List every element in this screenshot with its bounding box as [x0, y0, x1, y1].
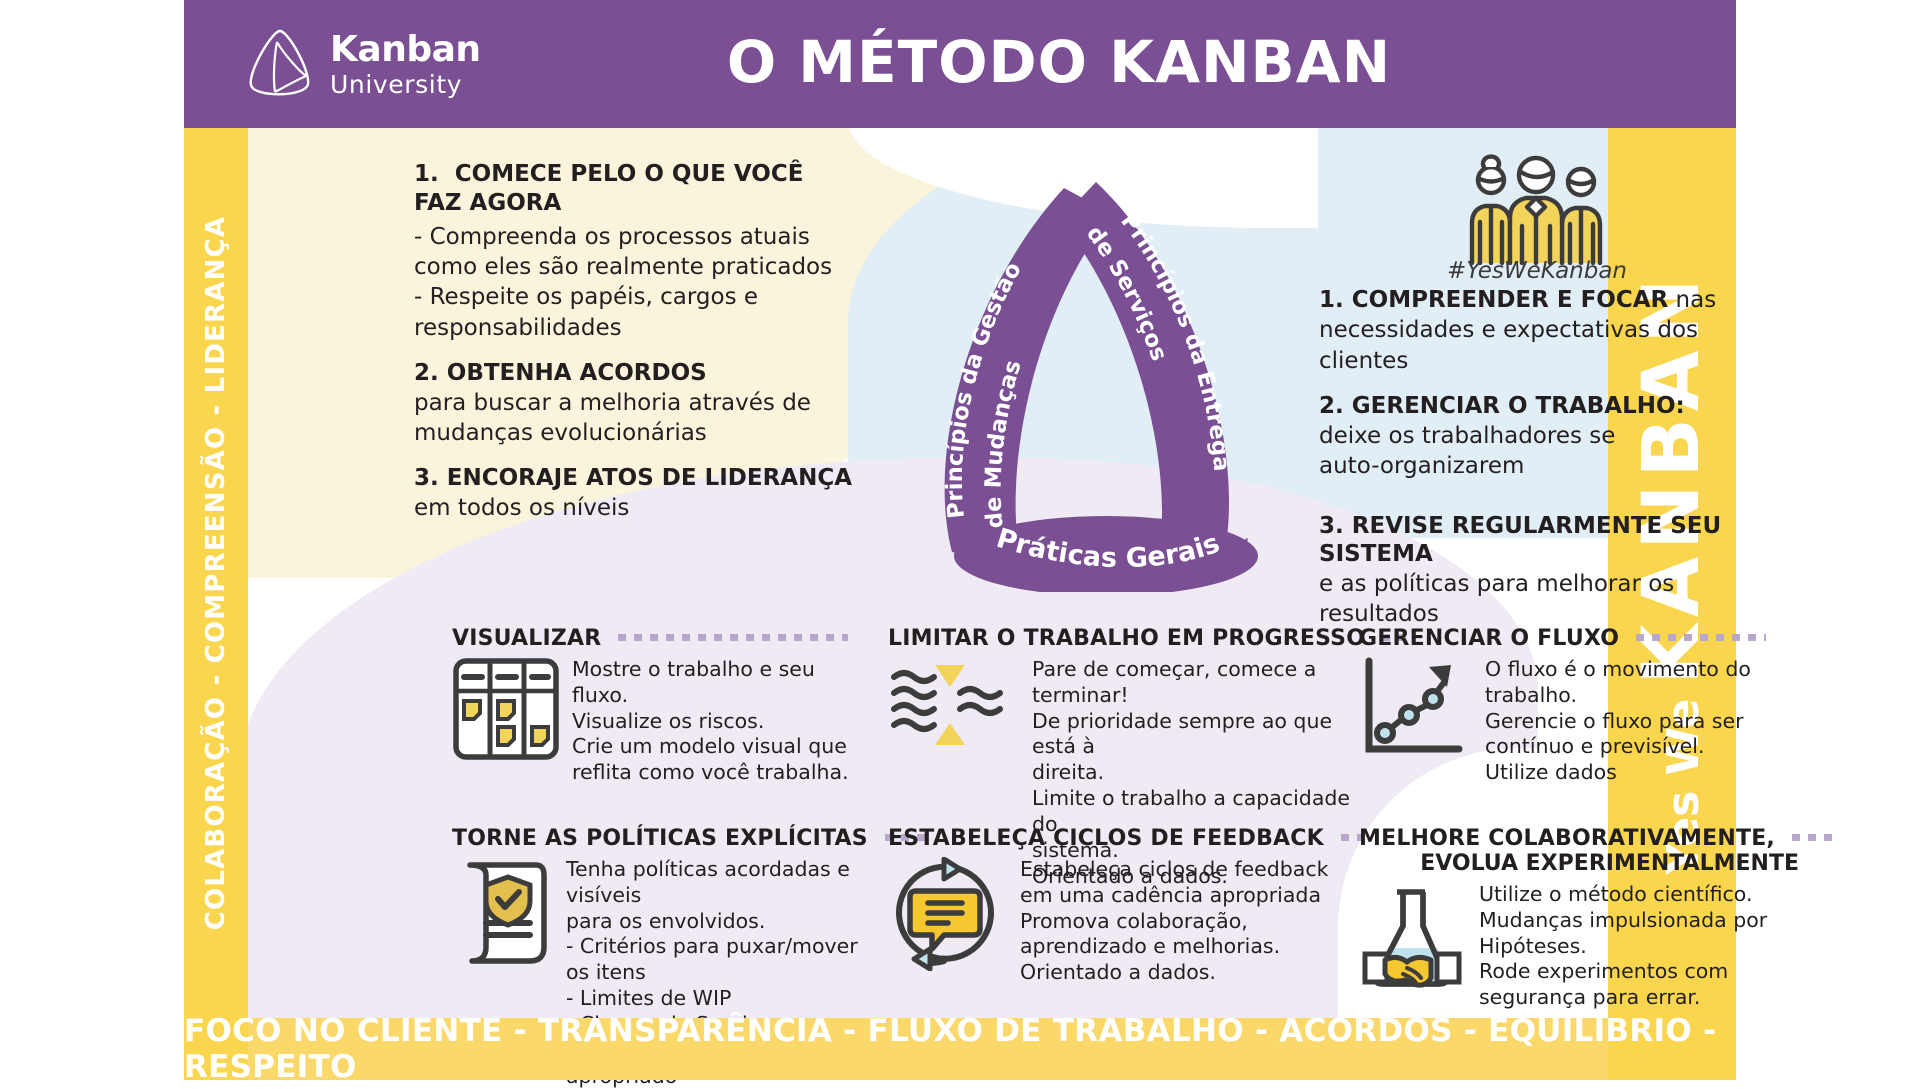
sp2-number: 2. [1319, 393, 1344, 419]
left-values-rail: COLABORAÇÃO - COMPREENSÃO - LIDERANÇA [184, 128, 248, 1018]
cp3-number: 3. [414, 465, 439, 491]
practice-5-title: ESTABELEÇA CICLOS DE FEEDBACK [888, 826, 1324, 851]
cp1-line-1: - Compreenda os processos atuais como el… [414, 222, 854, 283]
wip-waves-icon [888, 657, 1018, 753]
cp1-number: 1. [414, 161, 439, 187]
three-people-icon [1442, 150, 1632, 265]
sp3-number: 3. [1319, 513, 1344, 539]
practice-6-dots [1792, 834, 1838, 841]
cp3-heading: ENCORAJE ATOS DE LIDERANÇA [447, 465, 852, 491]
practice-2-title: LIMITAR O TRABALHO EM PROGRESSO [888, 626, 1365, 651]
sp2-heading: GERENCIAR O TRABALHO: [1352, 393, 1685, 419]
sp1-tail: nas [1668, 287, 1716, 313]
hashtag-label: #YesWeKanban [1442, 258, 1632, 284]
practice-card-visualizar: VISUALIZAR Mostre o trabalho e seu fluxo… [452, 626, 872, 786]
poster-root: Kanban University O MÉTODO KANBAN COLABO… [184, 0, 1736, 1080]
sp1-number: 1. [1319, 287, 1344, 313]
service-principle-3: 3. REVISE REGULARMENTE SEU SISTEMA e as … [1319, 512, 1789, 630]
service-principles-column: 1. COMPREENDER E FOCAR nas necessidades … [1319, 285, 1789, 630]
practice-1-dots [618, 634, 848, 641]
sp1-heading: COMPREENDER E FOCAR [1352, 287, 1668, 313]
service-principle-1: 1. COMPREENDER E FOCAR nas necessidades … [1319, 285, 1789, 376]
change-principle-2: 2. OBTENHA ACORDOS para buscar a melhori… [414, 359, 854, 448]
kanban-university-logo: Kanban University [244, 26, 481, 102]
change-principle-3: 3. ENCORAJE ATOS DE LIDERANÇA em todos o… [414, 464, 854, 523]
practice-3-description: O fluxo é o movimento do trabalho. Geren… [1485, 657, 1751, 786]
practice-5-description: Estabeleça ciclos de feedback em uma cad… [1020, 857, 1329, 986]
practice-6-title-line2: EVOLUA EXPERIMENTALMENTE [1359, 851, 1799, 876]
practice-6-description: Utilize o método científico. Mudanças im… [1479, 882, 1767, 1011]
logo-subtitle: University [330, 72, 481, 97]
cp1-heading: COMECE PELO O QUE VOCÊ FAZ AGORA [414, 161, 803, 216]
cp3-line-1: em todos os níveis [414, 493, 854, 523]
sp2-line-2: auto-organizarem [1319, 451, 1789, 481]
kanban-triangle-diagram: Princípios da Gestão de Mudanças Princíp… [874, 152, 1314, 592]
policy-document-icon [452, 857, 556, 969]
practice-6-title: MELHORE COLABORATIVAMENTE, [1359, 826, 1775, 851]
header-bar: Kanban University O MÉTODO KANBAN [184, 0, 1736, 128]
practice-card-gerenciar-fluxo: GERENCIAR O FLUXO O fluxo é o movimento … [1359, 626, 1779, 786]
kanban-triangle-logo-icon [244, 26, 316, 102]
service-principle-2: 2. GERENCIAR O TRABALHO: deixe os trabal… [1319, 392, 1789, 481]
kanban-board-icon [452, 657, 560, 761]
change-principles-column: 1. COMECE PELO O QUE VOCÊ FAZ AGORA - Co… [414, 160, 854, 524]
sp3-heading: REVISE REGULARMENTE SEU SISTEMA [1319, 513, 1721, 568]
flow-chart-icon [1359, 657, 1471, 757]
practice-3-title: GERENCIAR O FLUXO [1359, 626, 1619, 651]
banner-text: FOCO NO CLIENTE - TRANSPARÊNCIA - FLUXO … [184, 1018, 1736, 1080]
bottom-values-banner: FOCO NO CLIENTE - TRANSPARÊNCIA - FLUXO … [184, 1018, 1736, 1080]
practice-4-title: TORNE AS POLÍTICAS EXPLÍCITAS [452, 826, 868, 851]
practice-3-dots [1636, 634, 1766, 641]
flask-handshake-icon [1359, 882, 1465, 994]
cp1-line-2: - Respeite os papéis, cargos e responsab… [414, 282, 854, 343]
sp3-line-1: e as políticas para melhorar os resultad… [1319, 569, 1789, 630]
practice-card-melhore-colaborativamente: MELHORE COLABORATIVAMENTE, EVOLUA EXPERI… [1359, 826, 1799, 1011]
logo-name: Kanban [330, 32, 481, 68]
practice-1-description: Mostre o trabalho e seu fluxo. Visualize… [572, 657, 872, 786]
cp2-heading: OBTENHA ACORDOS [447, 360, 707, 386]
practice-card-ciclos-feedback: ESTABELEÇA CICLOS DE FEEDBACK Estabeleça… [888, 826, 1358, 986]
left-rail-text: COLABORAÇÃO - COMPREENSÃO - LIDERANÇA [201, 216, 231, 930]
cp2-number: 2. [414, 360, 439, 386]
sp1-line-1: necessidades e expectativas dos clientes [1319, 315, 1789, 376]
sp2-line-1: deixe os trabalhadores se [1319, 421, 1789, 451]
cp2-line-1: para buscar a melhoria através de mudanç… [414, 388, 854, 449]
feedback-loop-icon [888, 857, 1004, 971]
practice-1-title: VISUALIZAR [452, 626, 601, 651]
change-principle-1: 1. COMECE PELO O QUE VOCÊ FAZ AGORA - Co… [414, 160, 854, 343]
page-title: O MÉTODO KANBAN [484, 28, 1634, 96]
